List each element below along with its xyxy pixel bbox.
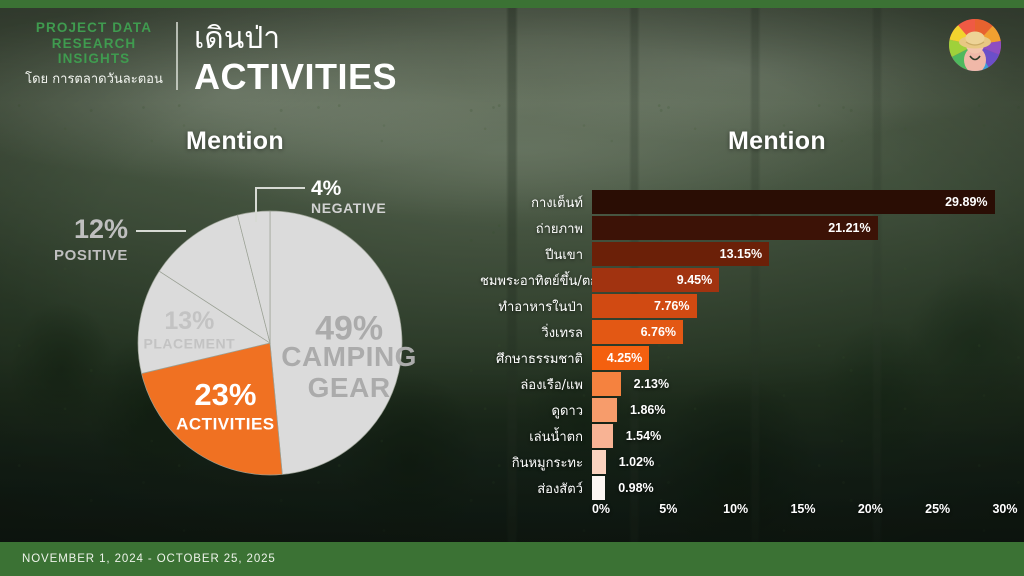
bar-row: ชมพระอาทิตย์ขึ้น/ตก9.45%: [480, 268, 1024, 292]
page-title-thai: เดินป่า: [194, 22, 397, 56]
footer: NOVEMBER 1, 2024 - OCTOBER 25, 2025: [0, 542, 1024, 576]
slide-root: PROJECT DATA RESEARCH INSIGHTS โดย การตล…: [0, 0, 1024, 576]
bar-row: ปีนเขา13.15%: [480, 242, 1024, 266]
bar-fill: 21.21%: [592, 216, 878, 240]
bar-category-label: ส่องสัตว์: [480, 478, 592, 499]
bar-category-label: ชมพระอาทิตย์ขึ้น/ตก: [480, 270, 592, 291]
right-section-heading-label: Mention: [728, 127, 826, 156]
bar-value-label: 1.86%: [623, 398, 672, 422]
bar-category-label: ถ่ายภาพ: [480, 218, 592, 239]
header-divider: [176, 22, 178, 90]
bar-value-label: 21.21%: [821, 221, 877, 235]
bar-category-label: กางเต็นท์: [480, 192, 592, 213]
svg-text:POSITIVE: POSITIVE: [54, 247, 128, 264]
bar-category-label: วิ่งเทรล: [480, 322, 592, 343]
bar-category-label: ดูดาว: [480, 400, 592, 421]
bar-row: ดูดาว1.86%: [480, 398, 1024, 422]
bar-track: 1.86%: [592, 398, 1024, 422]
bar-row: วิ่งเทรล6.76%: [480, 320, 1024, 344]
bar-track: 1.54%: [592, 424, 1024, 448]
person-rainbow-avatar-icon: [948, 18, 1002, 72]
page-title-english: ACTIVITIES: [194, 57, 397, 97]
bar-fill: [592, 450, 606, 474]
bar-fill: 7.76%: [592, 294, 697, 318]
svg-text:ACTIVITIES: ACTIVITIES: [176, 414, 275, 433]
page-title: เดินป่า ACTIVITIES: [194, 22, 397, 97]
bar-chart-x-axis: 0%5%10%15%20%25%30%: [592, 502, 1024, 522]
pie-chart: 49%CAMPINGGEAR23%ACTIVITIES13%PLACEMENT1…: [0, 170, 500, 530]
bar-category-label: ทำอาหารในป่า: [480, 296, 592, 317]
bar-value-label: 1.02%: [612, 450, 661, 474]
bar-chart-rows: กางเต็นท์29.89%ถ่ายภาพ21.21%ปีนเขา13.15%…: [480, 190, 1024, 500]
bar-value-label: 13.15%: [713, 247, 769, 261]
bar-value-label: 0.98%: [611, 476, 660, 500]
right-section-heading: Mention: [728, 127, 826, 156]
svg-text:4%: 4%: [311, 177, 342, 200]
brand-line-2: RESEARCH: [14, 36, 174, 52]
footer-date-range: NOVEMBER 1, 2024 - OCTOBER 25, 2025: [0, 553, 276, 565]
bar-value-label: 6.76%: [634, 325, 683, 339]
bar-track: 1.02%: [592, 450, 1024, 474]
bar-track: 21.21%: [592, 216, 1024, 240]
pie-callout-positive: 12%POSITIVE: [54, 214, 186, 264]
bar-row: ศึกษาธรรมชาติ4.25%: [480, 346, 1024, 370]
bar-row: เล่นน้ำตก1.54%: [480, 424, 1024, 448]
bar-row: ทำอาหารในป่า7.76%: [480, 294, 1024, 318]
left-section-heading: Mention: [186, 127, 284, 156]
brand-logo: PROJECT DATA RESEARCH INSIGHTS โดย การตล…: [14, 20, 174, 90]
bar-row: กางเต็นท์29.89%: [480, 190, 1024, 214]
svg-text:GEAR: GEAR: [308, 372, 391, 403]
bar-track: 2.13%: [592, 372, 1024, 396]
bar-row: ล่องเรือ/แพ2.13%: [480, 372, 1024, 396]
brand-line-1: PROJECT DATA: [14, 20, 174, 36]
svg-text:PLACEMENT: PLACEMENT: [144, 336, 236, 352]
x-axis-tick: 30%: [992, 502, 1017, 516]
bar-category-label: ศึกษาธรรมชาติ: [480, 348, 592, 369]
brand-thai-credit: โดย การตลาดวันละตอน: [14, 70, 174, 90]
bar-value-label: 29.89%: [938, 195, 994, 209]
bar-fill: [592, 424, 613, 448]
bar-fill: 13.15%: [592, 242, 769, 266]
x-axis-tick: 0%: [592, 502, 610, 516]
bar-chart: กางเต็นท์29.89%ถ่ายภาพ21.21%ปีนเขา13.15%…: [480, 190, 1024, 520]
bar-category-label: เล่นน้ำตก: [480, 426, 592, 447]
brand-line-3: INSIGHTS: [14, 51, 174, 67]
bar-category-label: ล่องเรือ/แพ: [480, 374, 592, 395]
bar-value-label: 7.76%: [647, 299, 696, 313]
bar-value-label: 4.25%: [600, 351, 649, 365]
bar-fill: 9.45%: [592, 268, 719, 292]
bar-value-label: 9.45%: [670, 273, 719, 287]
bar-track: 7.76%: [592, 294, 1024, 318]
x-axis-tick: 10%: [723, 502, 748, 516]
bar-track: 9.45%: [592, 268, 1024, 292]
bar-row: ส่องสัตว์0.98%: [480, 476, 1024, 500]
bar-track: 0.98%: [592, 476, 1024, 500]
x-axis-tick: 15%: [790, 502, 815, 516]
bar-track: 29.89%: [592, 190, 1024, 214]
left-section-heading-label: Mention: [186, 127, 284, 156]
svg-text:12%: 12%: [74, 214, 128, 244]
bar-row: กินหมูกระทะ1.02%: [480, 450, 1024, 474]
bar-value-label: 1.54%: [619, 424, 668, 448]
bar-track: 6.76%: [592, 320, 1024, 344]
bar-value-label: 2.13%: [627, 372, 676, 396]
bar-track: 13.15%: [592, 242, 1024, 266]
bar-row: ถ่ายภาพ21.21%: [480, 216, 1024, 240]
svg-text:NEGATIVE: NEGATIVE: [311, 200, 386, 216]
bar-fill: [592, 398, 617, 422]
bar-fill: [592, 476, 605, 500]
svg-text:CAMPING: CAMPING: [281, 341, 417, 372]
svg-text:13%: 13%: [164, 307, 214, 335]
svg-text:23%: 23%: [194, 377, 256, 412]
x-axis-tick: 20%: [858, 502, 883, 516]
bar-category-label: ปีนเขา: [480, 244, 592, 265]
x-axis-tick: 25%: [925, 502, 950, 516]
header: PROJECT DATA RESEARCH INSIGHTS โดย การตล…: [0, 8, 1024, 106]
bar-fill: 6.76%: [592, 320, 683, 344]
bar-fill: 29.89%: [592, 190, 995, 214]
bar-category-label: กินหมูกระทะ: [480, 452, 592, 473]
x-axis-tick: 5%: [659, 502, 677, 516]
top-accent-bar: [0, 0, 1024, 8]
bar-track: 4.25%: [592, 346, 1024, 370]
bar-fill: [592, 372, 621, 396]
bar-fill: 4.25%: [592, 346, 649, 370]
